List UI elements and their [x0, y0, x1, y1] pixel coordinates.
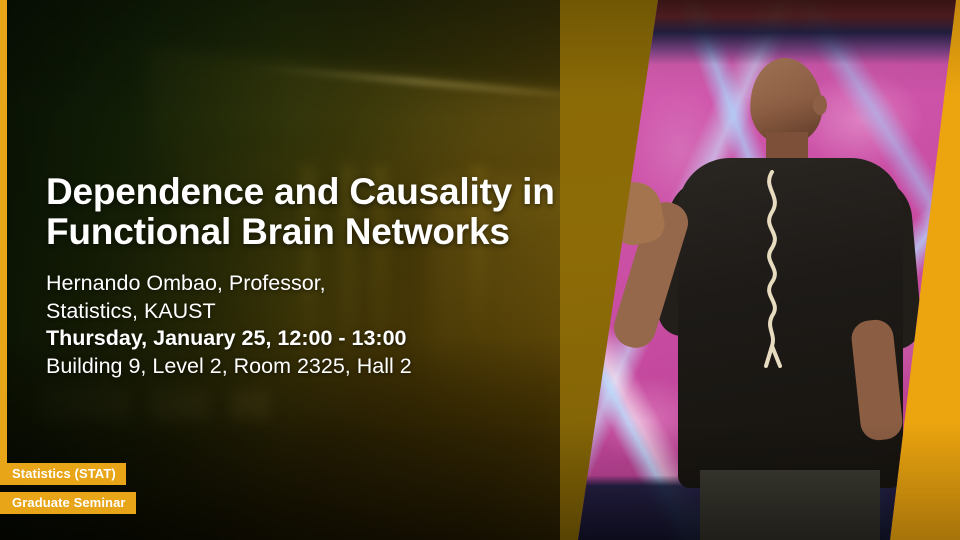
status-badge-event-type: Graduate Seminar: [0, 492, 136, 514]
speaker-photo-panel: [560, 0, 960, 540]
seminar-announcement-slide: Dependence and Causality in Functional B…: [0, 0, 960, 540]
category-badges: Statistics (STAT) Graduate Seminar: [0, 463, 136, 514]
detail-line-location: Building 9, Level 2, Room 2325, Hall 2: [46, 353, 566, 381]
detail-line-affiliation: Statistics, KAUST: [46, 298, 566, 326]
status-badge-department: Statistics (STAT): [0, 463, 126, 485]
photo-shading-overlay: [560, 0, 960, 540]
page-title: Dependence and Causality in Functional B…: [46, 172, 566, 252]
slide-text-block: Dependence and Causality in Functional B…: [46, 172, 566, 380]
detail-line-speaker: Hernando Ombao, Professor,: [46, 270, 566, 298]
detail-line-datetime: Thursday, January 25, 12:00 - 13:00: [46, 325, 566, 353]
seminar-details: Hernando Ombao, Professor, Statistics, K…: [46, 270, 566, 380]
left-accent-stripe: [0, 0, 7, 463]
